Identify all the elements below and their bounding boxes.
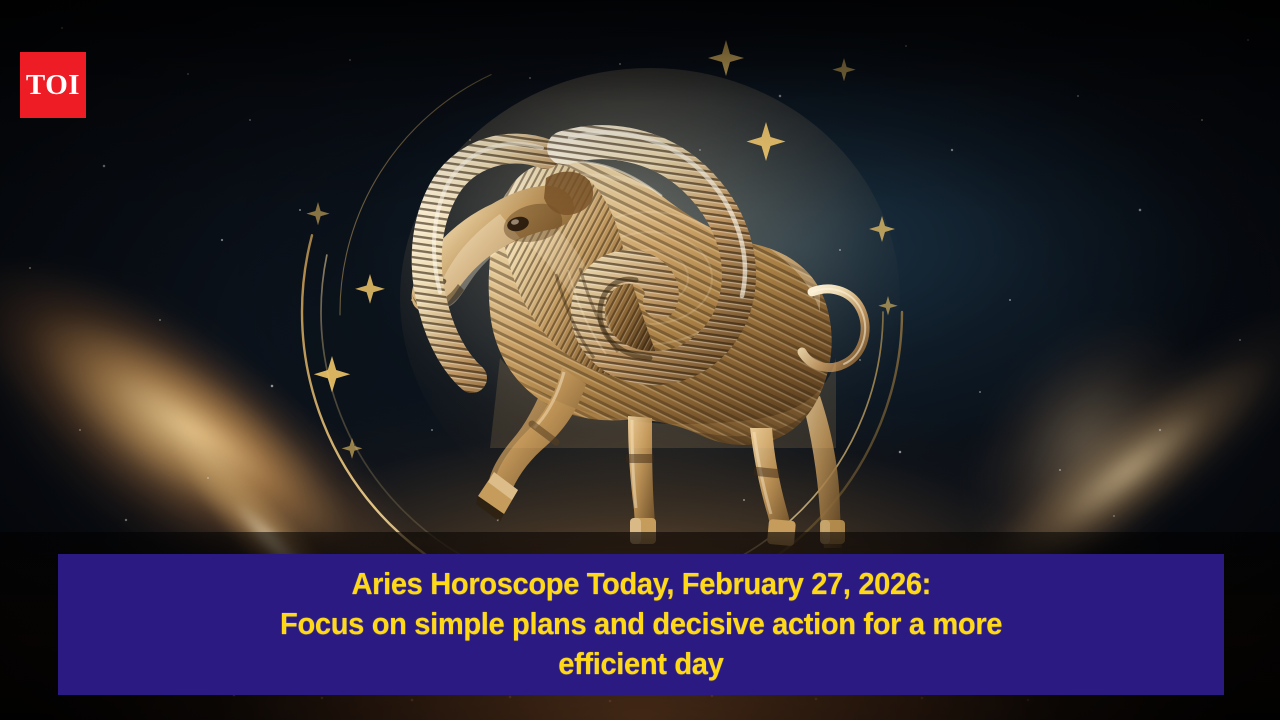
caption-line-2: Focus on simple plans and decisive actio… <box>280 604 1002 644</box>
toi-logo-icon[interactable]: TOI <box>20 52 86 118</box>
caption-line-1: Aries Horoscope Today, February 27, 2026… <box>351 564 930 604</box>
toi-logo-label: TOI <box>26 71 80 100</box>
caption-line-3: efficient day <box>558 644 723 684</box>
caption-banner: Aries Horoscope Today, February 27, 2026… <box>58 554 1224 695</box>
article-hero-image: TOI Aries Horoscope Today, February 27, … <box>0 0 1280 720</box>
